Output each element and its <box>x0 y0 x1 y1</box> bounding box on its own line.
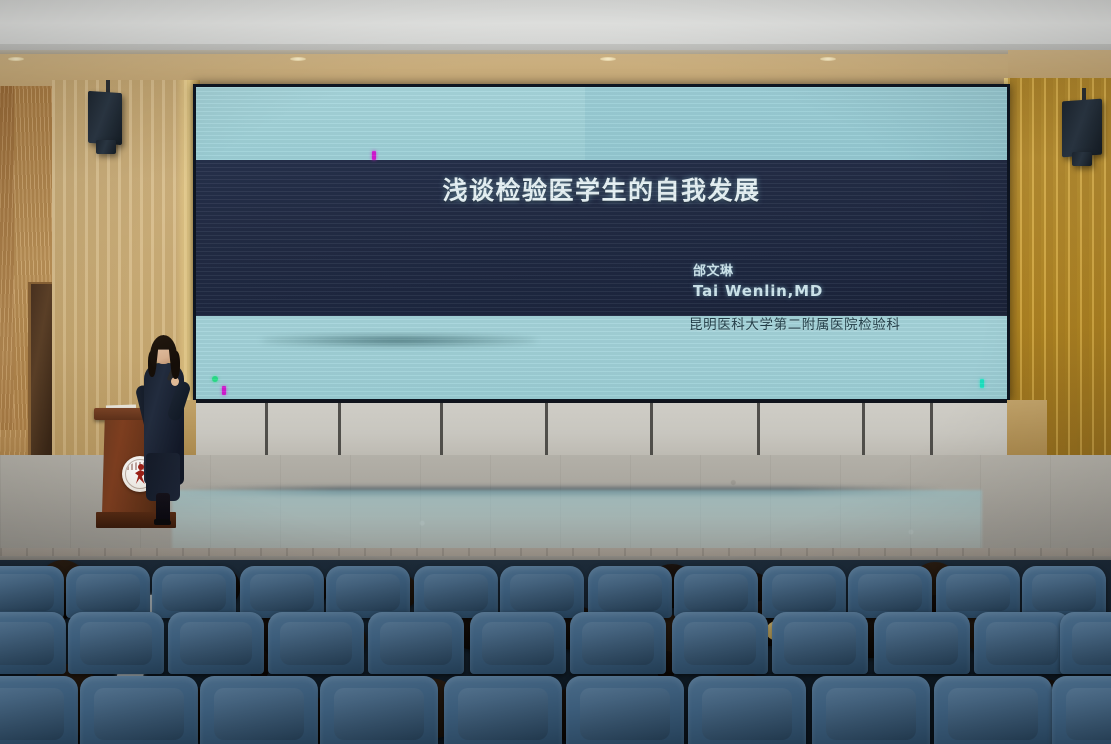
slide-band-top-right <box>585 87 1007 160</box>
audience-seat[interactable] <box>772 612 868 674</box>
audience-seat[interactable] <box>848 566 932 618</box>
audience-seat[interactable] <box>368 612 464 674</box>
audience-seat[interactable] <box>500 566 584 618</box>
ceiling-speaker-right <box>1062 99 1102 158</box>
slide-affiliation: 昆明医科大学第二附属医院检验科 <box>196 313 1007 333</box>
audience-seat[interactable] <box>414 566 498 618</box>
stage-panel-divider-2 <box>440 403 443 458</box>
slide-author-name-en: Tai Wenlin,MD <box>196 282 1007 300</box>
ceiling-speaker-left <box>88 91 122 145</box>
audience-seat[interactable] <box>688 676 806 744</box>
audience-seat[interactable] <box>874 612 970 674</box>
stage-wall-right-return <box>1007 400 1047 458</box>
audience-seat[interactable] <box>326 566 410 618</box>
slide-author-name-cn: 邰文琳 <box>196 260 1007 279</box>
audience-seat[interactable] <box>0 566 64 618</box>
downlight-1 <box>290 57 306 61</box>
stage-front-wall <box>196 400 1007 458</box>
screen-smudge-streak <box>261 334 537 347</box>
green-dot-bottom-left <box>212 376 218 382</box>
audience-seat[interactable] <box>570 612 666 674</box>
audience-seat[interactable] <box>934 676 1052 744</box>
audience-seat[interactable] <box>672 612 768 674</box>
valance-lip <box>0 50 1111 54</box>
downlight-3 <box>820 57 836 61</box>
stage-panel-divider-7 <box>930 403 933 458</box>
ceiling-speaker-left-horn <box>96 140 116 154</box>
stage-panel-divider-0 <box>265 403 268 458</box>
audience-seat[interactable] <box>588 566 672 618</box>
audience-seat[interactable] <box>974 612 1070 674</box>
audience-seat[interactable] <box>936 566 1020 618</box>
audience-seat[interactable] <box>240 566 324 618</box>
led-screen: 浅谈检验医学生的自我发展 邰文琳 Tai Wenlin,MD 昆明医科大学第二附… <box>196 87 1007 399</box>
magenta-dot-top <box>372 151 376 160</box>
audience-area <box>0 560 1111 744</box>
audience-seat[interactable] <box>168 612 264 674</box>
audience-seat[interactable] <box>762 566 846 618</box>
audience-seat[interactable] <box>66 566 150 618</box>
audience-seat[interactable] <box>268 612 364 674</box>
stage-panel-divider-3 <box>545 403 548 458</box>
audience-seat[interactable] <box>1052 676 1111 744</box>
audience-seat[interactable] <box>152 566 236 618</box>
audience-seat[interactable] <box>566 676 684 744</box>
audience-seat[interactable] <box>444 676 562 744</box>
audience-seat[interactable] <box>320 676 438 744</box>
slide-author-block: 邰文琳 Tai Wenlin,MD <box>196 260 1007 300</box>
audience-seat[interactable] <box>1060 612 1111 674</box>
magenta-dot-bottom-left <box>222 386 226 395</box>
audience-seat[interactable] <box>674 566 758 618</box>
audience-seat[interactable] <box>68 612 164 674</box>
ceiling-speaker-right-horn <box>1072 152 1092 166</box>
audience-seat[interactable] <box>80 676 198 744</box>
photo-scene: 浅谈检验医学生的自我发展 邰文琳 Tai Wenlin,MD 昆明医科大学第二附… <box>0 0 1111 744</box>
audience-seat[interactable] <box>0 612 66 674</box>
downlight-0 <box>8 57 24 61</box>
audience-seat[interactable] <box>1022 566 1106 618</box>
slide-title: 浅谈检验医学生的自我发展 <box>196 171 1007 207</box>
cyan-dot-bottom-right <box>980 379 984 388</box>
downlight-2 <box>600 57 616 61</box>
stage-panel-divider-6 <box>862 403 865 458</box>
audience-seat[interactable] <box>470 612 566 674</box>
audience-seat[interactable] <box>0 676 78 744</box>
stage-panel-divider-4 <box>650 403 653 458</box>
stage-floor-screen-reflection <box>172 490 982 556</box>
audience-seat[interactable] <box>812 676 930 744</box>
audience-seat[interactable] <box>200 676 318 744</box>
presenter <box>140 333 188 523</box>
stage-panel-divider-1 <box>338 403 341 458</box>
presenter-shoes <box>154 519 171 525</box>
stage-panel-divider-5 <box>757 403 760 458</box>
